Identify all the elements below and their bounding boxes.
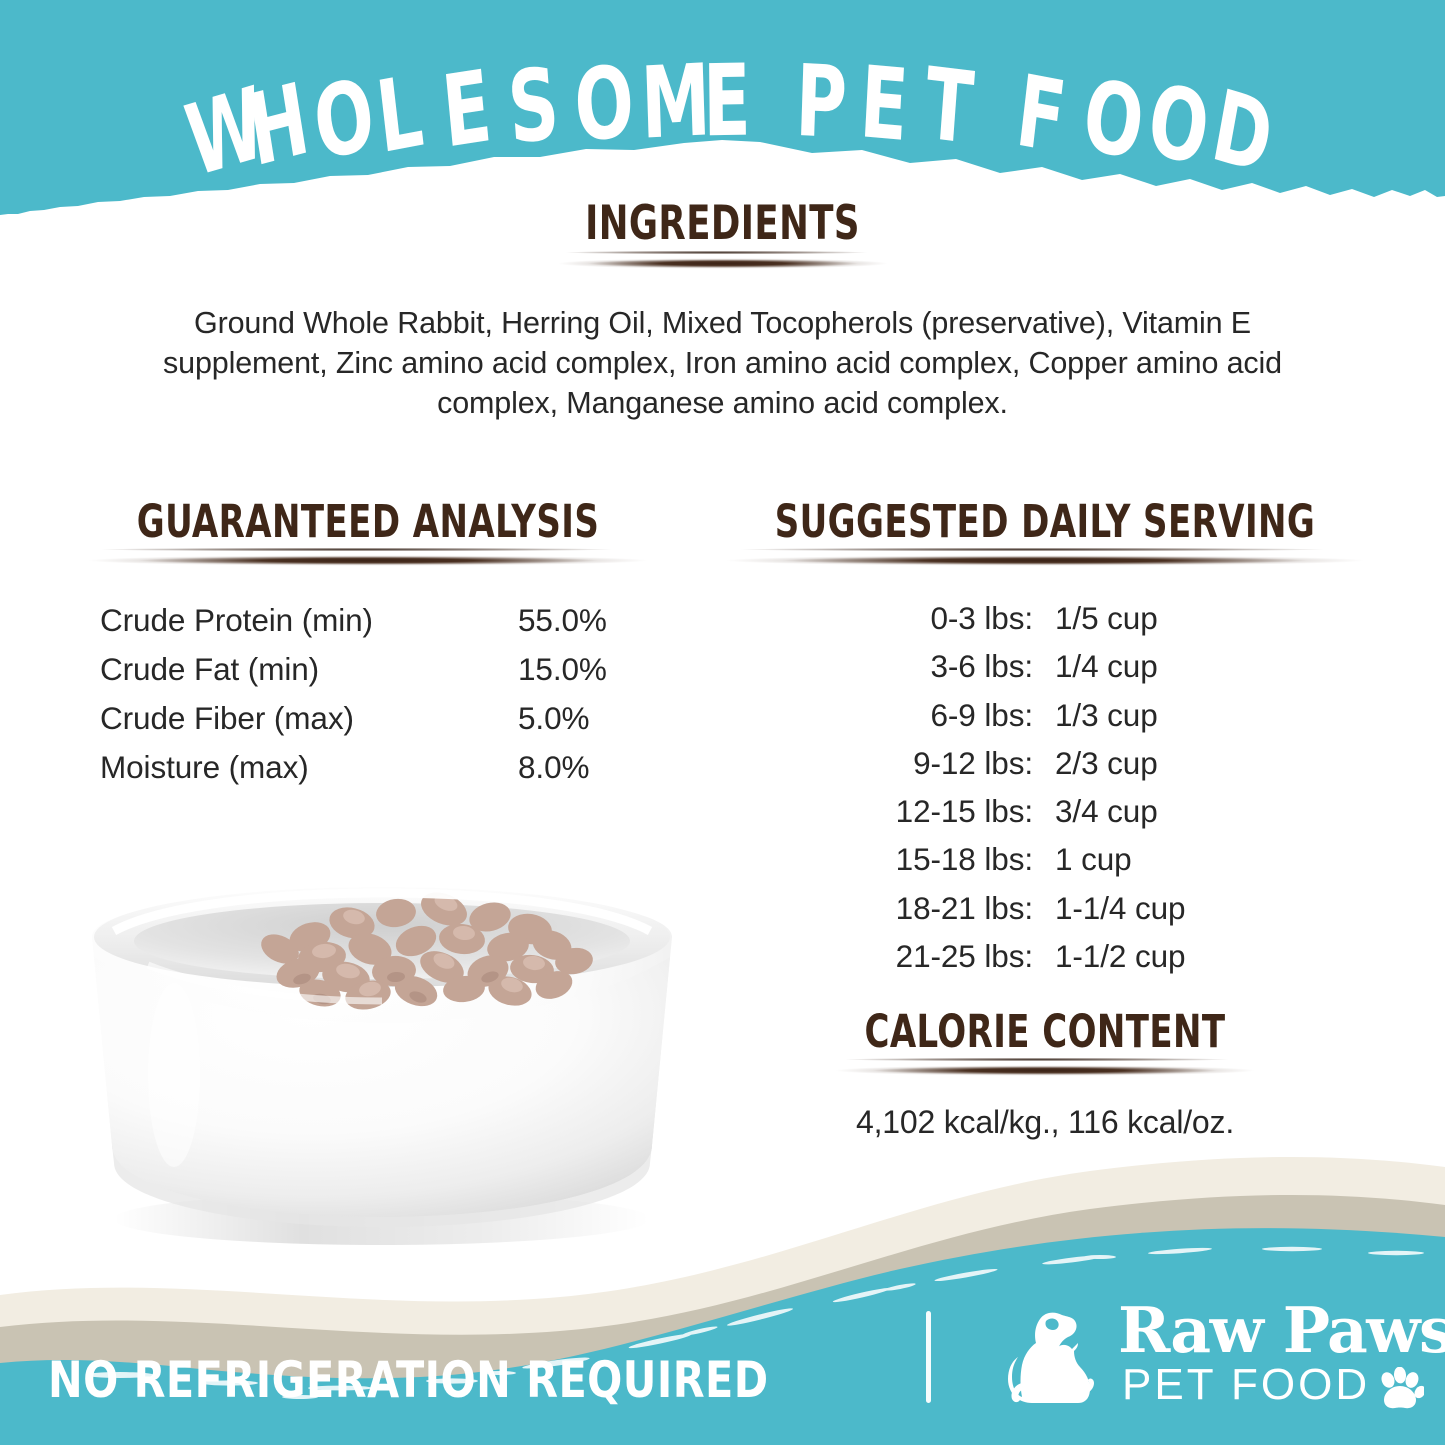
suggested-daily-serving-list: 0-3 lbs:1/5 cup3-6 lbs:1/4 cup6-9 lbs:1/… (700, 594, 1390, 980)
analysis-value: 15.0% (518, 645, 607, 694)
no-refrigeration-claim: NO REFRIGERATION REQUIRED (48, 1351, 769, 1409)
serving-weight: 3-6 lbs: (700, 642, 1033, 690)
serving-weight: 21-25 lbs: (700, 932, 1033, 980)
analysis-value: 55.0% (518, 596, 607, 645)
calorie-content-heading: CALORIE CONTENT (755, 1005, 1335, 1058)
logo-brand-text: Raw Paws (1118, 1293, 1445, 1367)
serving-amount: 1/5 cup (1033, 594, 1158, 642)
heading-underline-brush (725, 555, 1365, 566)
serving-amount: 1/4 cup (1033, 642, 1158, 690)
serving-row: 15-18 lbs:1 cup (700, 835, 1390, 883)
footer-divider (926, 1311, 931, 1403)
ingredients-text: Ground Whole Rabbit, Herring Oil, Mixed … (0, 303, 1445, 423)
ingredients-section: INGREDIENTS Ground Whole Rabbit, Herring… (0, 196, 1445, 423)
analysis-label: Crude Fat (min) (100, 645, 518, 694)
paw-print-icon (1378, 1367, 1424, 1411)
analysis-label: Moisture (max) (100, 743, 518, 792)
serving-row: 6-9 lbs:1/3 cup (700, 691, 1390, 739)
analysis-row: Crude Fat (min)15.0% (100, 645, 678, 694)
analysis-value: 8.0% (518, 743, 589, 792)
serving-weight: 9-12 lbs: (700, 739, 1033, 787)
pet-food-label: WHOLESOMEPETFOOD INGREDIENTS Ground Whol… (0, 0, 1445, 1445)
guaranteed-analysis-heading: GUARANTEED ANALYSIS (108, 495, 629, 548)
heading-underline-brush (88, 555, 648, 566)
analysis-label: Crude Protein (min) (100, 596, 518, 645)
analysis-label: Crude Fiber (max) (100, 694, 518, 743)
serving-row: 0-3 lbs:1/5 cup (700, 594, 1390, 642)
serving-row: 21-25 lbs:1-1/2 cup (700, 932, 1390, 980)
heading-underline-brush (835, 1065, 1255, 1076)
serving-amount: 1-1/2 cup (1033, 932, 1185, 980)
serving-weight: 18-21 lbs: (700, 884, 1033, 932)
serving-row: 9-12 lbs:2/3 cup (700, 739, 1390, 787)
logo-tagline: PET FOOD (1122, 1361, 1370, 1409)
serving-amount: 1-1/4 cup (1033, 884, 1185, 932)
suggested-daily-serving-section: SUGGESTED DAILY SERVING 0-3 lbs:1/5 cup3… (700, 495, 1390, 980)
header-teal-shape (0, 0, 1445, 215)
serving-row: 12-15 lbs:3/4 cup (700, 787, 1390, 835)
serving-weight: 0-3 lbs: (700, 594, 1033, 642)
serving-weight: 6-9 lbs: (700, 691, 1033, 739)
calorie-content-section: CALORIE CONTENT 4,102 kcal/kg., 116 kcal… (700, 1005, 1390, 1141)
analysis-row: Moisture (max)8.0% (100, 743, 678, 792)
serving-row: 18-21 lbs:1-1/4 cup (700, 884, 1390, 932)
heading-underline-brush (558, 258, 888, 269)
suggested-daily-serving-heading: SUGGESTED DAILY SERVING (755, 495, 1335, 548)
serving-amount: 1 cup (1033, 835, 1132, 883)
serving-amount: 1/3 cup (1033, 691, 1158, 739)
logo-brand-name: Raw Paws® (1118, 1297, 1445, 1363)
dog-and-cat-silhouette-icon (1000, 1299, 1118, 1417)
brand-logo[interactable]: Raw Paws® PET FOOD (1000, 1295, 1400, 1421)
analysis-row: Crude Protein (min)55.0% (100, 596, 678, 645)
guaranteed-analysis-section: GUARANTEED ANALYSIS Crude Protein (min)5… (58, 495, 678, 792)
serving-weight: 12-15 lbs: (700, 787, 1033, 835)
serving-weight: 15-18 lbs: (700, 835, 1033, 883)
serving-amount: 3/4 cup (1033, 787, 1158, 835)
header-band (0, 0, 1445, 215)
analysis-value: 5.0% (518, 694, 589, 743)
ingredients-heading: INGREDIENTS (116, 196, 1330, 251)
guaranteed-analysis-list: Crude Protein (min)55.0%Crude Fat (min)1… (58, 596, 678, 792)
calorie-content-text: 4,102 kcal/kg., 116 kcal/oz. (700, 1104, 1390, 1141)
serving-row: 3-6 lbs:1/4 cup (700, 642, 1390, 690)
analysis-row: Crude Fiber (max)5.0% (100, 694, 678, 743)
serving-amount: 2/3 cup (1033, 739, 1158, 787)
